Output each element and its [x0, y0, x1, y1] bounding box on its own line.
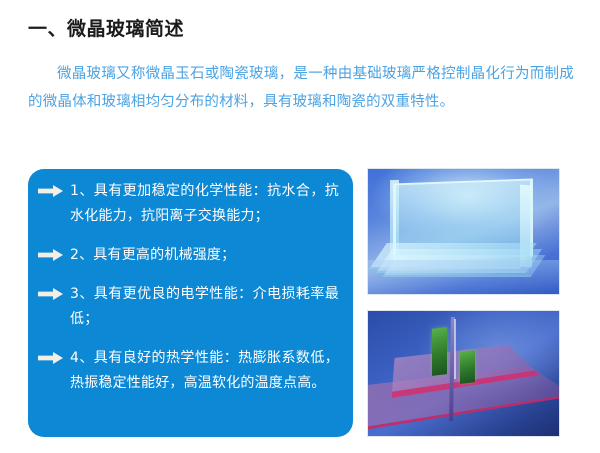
list-item-label: 3、具有更优良的电学性能：介电损耗率最低； — [70, 282, 339, 332]
arrow-right-icon — [38, 287, 64, 307]
feature-box: 1、具有更加稳定的化学性能：抗水合，抗水化能力，抗阳离子交换能力； 2、具有更高… — [28, 169, 353, 437]
list-item-label: 2、具有更高的机械强度； — [70, 243, 339, 268]
arrow-right-icon — [38, 184, 64, 204]
arrow-right-icon — [38, 351, 64, 371]
slide-canvas: 一、微晶玻璃简述 微晶玻璃又称微晶玉石或陶瓷玻璃，是一种由基础玻璃严格控制晶化行… — [0, 0, 600, 453]
list-item-label: 1、具有更加稳定的化学性能：抗水合，抗水化能力，抗阳离子交换能力； — [70, 179, 339, 229]
arrow-right-icon — [38, 248, 64, 268]
intro-paragraph: 微晶玻璃又称微晶玉石或陶瓷玻璃，是一种由基础玻璃严格控制晶化行为而制成的微晶体和… — [28, 60, 574, 116]
list-item: 1、具有更加稳定的化学性能：抗水合，抗水化能力，抗阳离子交换能力； — [28, 179, 353, 229]
rod-highlight — [454, 319, 456, 379]
green-crystal-block — [432, 327, 447, 376]
feature-list: 1、具有更加稳定的化学性能：抗水合，抗水化能力，抗阳离子交换能力； 2、具有更高… — [28, 179, 353, 410]
list-item: 3、具有更优良的电学性能：介电损耗率最低； — [28, 282, 353, 332]
list-item: 4、具有良好的热学性能：热膨胀系数低，热振稳定性能好，高温软化的温度点高。 — [28, 346, 353, 396]
glass-reflection — [368, 260, 560, 294]
crystal-render-photo — [367, 310, 560, 437]
page-title: 一、微晶玻璃简述 — [28, 14, 184, 41]
green-crystal-block — [460, 350, 475, 384]
list-item: 2、具有更高的机械强度； — [28, 243, 353, 268]
list-item-label: 4、具有良好的热学性能：热膨胀系数低，热振稳定性能好，高温软化的温度点高。 — [70, 346, 339, 396]
glass-sheets-photo — [367, 168, 560, 295]
